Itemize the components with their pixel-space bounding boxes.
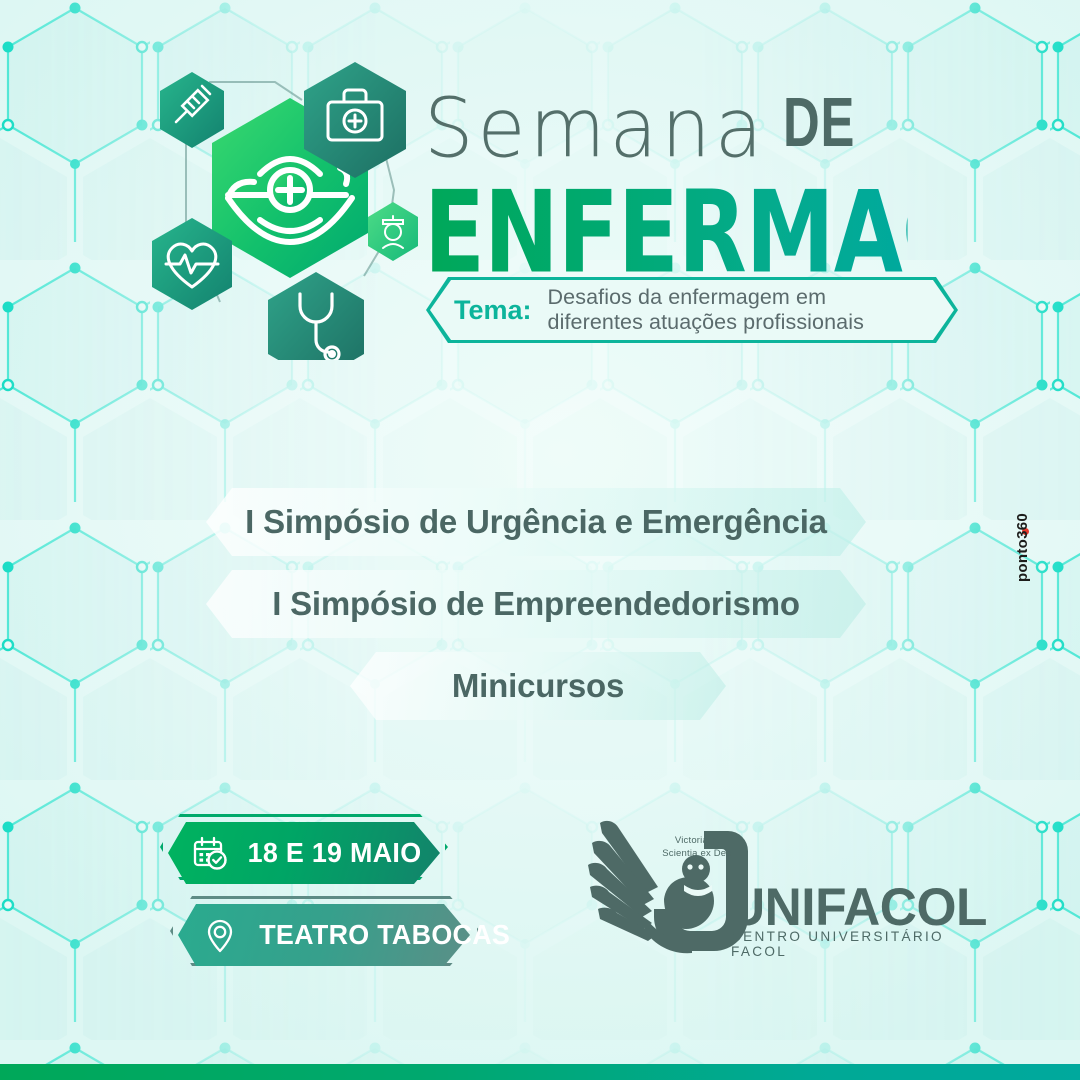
credit-label: ponto360 <box>1014 513 1031 582</box>
theme-description: Desafios da enfermagem em diferentes atu… <box>548 285 864 336</box>
hexagon-stethoscope <box>268 272 364 360</box>
event-banner-label: I Simpósio de Empreendedorismo <box>272 585 800 623</box>
title-semana: Semana <box>424 84 767 174</box>
event-banner[interactable]: Minicursos <box>350 652 726 720</box>
event-list: I Simpósio de Urgência e Emergência I Si… <box>0 488 1080 734</box>
poster-title: Semana DE ENFERMAGEM <box>424 86 944 272</box>
theme-description-line-1: Desafios da enfermagem em <box>548 285 827 309</box>
logo-subtitle: CENTRO UNIVERSITÁRIO FACOL <box>731 929 946 959</box>
theme-label: Tema: <box>454 295 532 326</box>
logo-motto-line-1: Victoria et <box>675 835 719 846</box>
bottom-accent-bar <box>0 1064 1080 1080</box>
event-banner-label: I Simpósio de Urgência e Emergência <box>245 503 827 541</box>
event-banner[interactable]: I Simpósio de Urgência e Emergência <box>206 488 866 556</box>
date-badge-label: 18 E 19 MAIO <box>248 837 422 869</box>
title-enfermagem: ENFERMAGEM <box>424 176 908 289</box>
location-pin-icon <box>200 915 240 955</box>
theme-banner: Tema: Desafios da enfermagem em diferent… <box>426 277 958 343</box>
calendar-check-icon <box>190 833 230 873</box>
venue-badge: TEATRO TABOCAS <box>178 904 470 966</box>
designer-credit: ponto360 <box>1006 513 1036 593</box>
logo-motto: Victoria et Scientia ex Deo <box>660 835 734 861</box>
poster-header: Semana DE ENFERMAGEM Tema: Desafios da e… <box>0 0 1080 380</box>
theme-content: Tema: Desafios da enfermagem em diferent… <box>426 285 864 336</box>
info-badges: 18 E 19 MAIO TEATRO TABOCAS <box>160 818 520 968</box>
title-de: DE <box>783 76 855 172</box>
theme-description-line-2: diferentes atuações profissionais <box>548 310 864 334</box>
unifacol-logo: Victoria et Scientia ex Deo UNIFACOL CEN… <box>586 795 946 965</box>
event-banner[interactable]: I Simpósio de Empreendedorismo <box>206 570 866 638</box>
medical-icon-cluster <box>150 50 450 360</box>
event-banner-label: Minicursos <box>452 667 624 705</box>
poster-canvas: Semana DE ENFERMAGEM Tema: Desafios da e… <box>0 0 1080 1080</box>
logo-motto-line-2: Scientia ex Deo <box>662 848 732 859</box>
date-badge: 18 E 19 MAIO <box>168 822 440 884</box>
hexagon-nurse-avatar <box>368 202 418 261</box>
title-line-1: Semana DE <box>424 86 944 172</box>
venue-badge-label: TEATRO TABOCAS <box>259 919 510 951</box>
hexagon-syringe <box>160 72 224 148</box>
